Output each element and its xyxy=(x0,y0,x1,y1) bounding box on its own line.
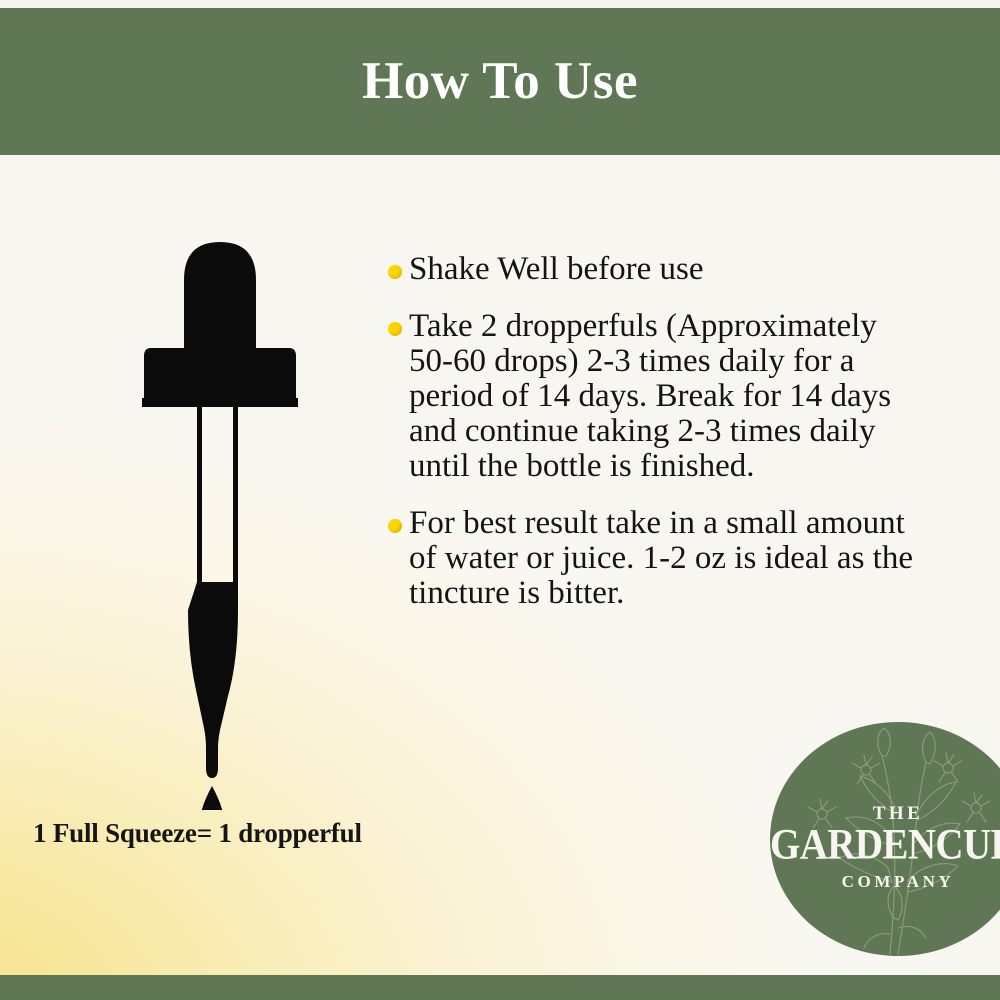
header-band: How To Use xyxy=(0,8,1000,155)
footer-band xyxy=(0,975,1000,1000)
botanical-line-art-icon xyxy=(770,722,1000,956)
list-item: Take 2 dropperfuls (Approximately 50-60 … xyxy=(388,309,918,484)
dropper-icon xyxy=(120,230,320,810)
bullet-dot-icon xyxy=(388,519,402,533)
infographic-canvas: How To Use Shake Well before use xyxy=(0,0,1000,1000)
list-item: For best result take in a small amount o… xyxy=(388,506,918,611)
bullet-dot-icon xyxy=(388,265,402,279)
logo-circle: THE GARDENCURE COMPANY xyxy=(770,722,1000,956)
top-edge-strip xyxy=(0,0,1000,8)
instructions-list: Shake Well before use Take 2 dropperfuls… xyxy=(388,252,918,633)
squeeze-caption: 1 Full Squeeze= 1 dropperful xyxy=(33,818,362,849)
instruction-text: For best result take in a small amount o… xyxy=(409,506,918,611)
page-title: How To Use xyxy=(362,55,638,108)
instruction-text: Shake Well before use xyxy=(409,252,918,287)
instruction-text: Take 2 dropperfuls (Approximately 50-60 … xyxy=(409,309,918,484)
list-item: Shake Well before use xyxy=(388,252,918,287)
bullet-dot-icon xyxy=(388,322,402,336)
dropper-illustration xyxy=(120,230,320,810)
brand-logo: THE GARDENCURE COMPANY xyxy=(770,722,1000,956)
